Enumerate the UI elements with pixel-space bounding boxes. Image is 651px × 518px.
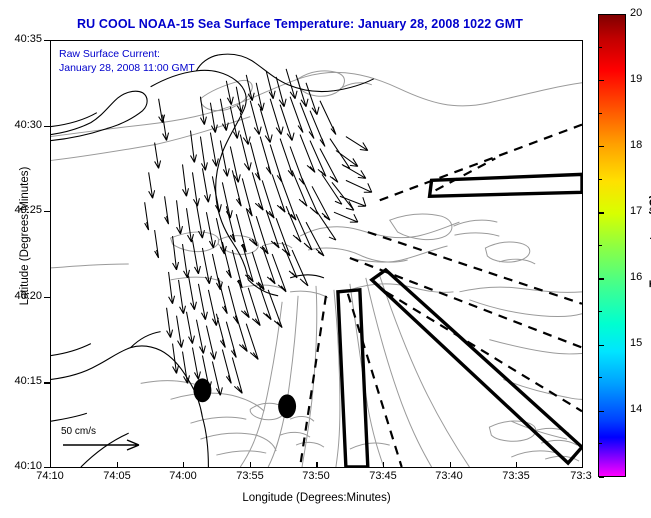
y-tick	[44, 211, 50, 212]
current-annotation: Raw Surface Current: January 28, 2008 11…	[59, 47, 195, 75]
colorbar-tick	[599, 345, 604, 346]
y-tick-label: 40:35	[0, 33, 42, 45]
x-tick-label: 74:00	[153, 470, 213, 482]
colorbar-minor-tick	[599, 179, 602, 180]
map-plot-area[interactable]: Raw Surface Current: January 28, 2008 11…	[50, 40, 583, 468]
y-tick	[44, 382, 50, 383]
y-tick-label: 40:30	[0, 119, 42, 131]
colorbar-tick	[599, 411, 604, 412]
colorbar-tick	[599, 146, 604, 147]
colorbar-tick	[599, 477, 604, 478]
x-tick-label: 74:05	[87, 470, 147, 482]
colorbar-tick	[599, 14, 604, 15]
colorbar-tick-label: 14	[630, 403, 642, 415]
x-tick	[450, 462, 451, 468]
map-canvas	[51, 41, 582, 467]
x-tick	[316, 462, 317, 468]
colorbar-tick-label: 20	[630, 7, 642, 19]
velocity-scale-label: 50 cm/s	[61, 426, 157, 437]
station-marker	[193, 378, 211, 402]
arrow-right-icon	[61, 438, 147, 452]
colorbar-minor-tick	[599, 47, 602, 48]
annotation-line-1: Raw Surface Current:	[59, 47, 195, 61]
velocity-scale-key: 50 cm/s	[61, 426, 157, 457]
x-axis-label: Longitude (Degrees:Minutes)	[50, 492, 583, 504]
colorbar-tick	[599, 212, 604, 213]
y-tick-label: 40:10	[0, 460, 42, 472]
colorbar-minor-tick	[599, 113, 602, 114]
y-tick	[44, 297, 50, 298]
x-tick	[50, 462, 51, 468]
y-tick	[44, 126, 50, 127]
y-tick	[44, 467, 50, 468]
station-marker-group	[193, 378, 296, 418]
colorbar-tick-label: 19	[630, 73, 642, 85]
colorbar-minor-tick	[599, 245, 602, 246]
annotation-line-2: January 28, 2008 11:00 GMT	[59, 61, 195, 75]
colorbar-tick-label: 16	[630, 271, 642, 283]
x-tick	[383, 462, 384, 468]
x-tick	[117, 462, 118, 468]
x-tick	[516, 462, 517, 468]
colorbar-tick-label: 17	[630, 205, 642, 217]
colorbar-tick	[599, 278, 604, 279]
y-tick	[44, 40, 50, 41]
colorbar-tick-label: 18	[630, 139, 642, 151]
sst-map-figure: RU COOL NOAA-15 Sea Surface Temperature:…	[0, 0, 651, 518]
temperature-colorbar[interactable]	[598, 14, 626, 477]
x-tick-label: 73:40	[419, 470, 479, 482]
current-vector-group	[145, 69, 372, 395]
x-tick-label: 73:35	[486, 470, 546, 482]
x-tick	[183, 462, 184, 468]
x-tick	[250, 462, 251, 468]
x-tick-label: 73:45	[353, 470, 413, 482]
x-tick-label: 73:55	[220, 470, 280, 482]
station-marker	[278, 394, 296, 418]
x-tick-label: 73:50	[286, 470, 346, 482]
colorbar-minor-tick	[599, 443, 602, 444]
page-title: RU COOL NOAA-15 Sea Surface Temperature:…	[0, 17, 600, 31]
solid-lane-group	[338, 174, 582, 467]
colorbar-tick	[599, 80, 604, 81]
x-tick	[582, 462, 583, 468]
colorbar-tick-label: 15	[630, 337, 642, 349]
y-axis-label: Latitude (Degrees:Minutes)	[19, 146, 31, 326]
colorbar-minor-tick	[599, 377, 602, 378]
y-tick-label: 40:15	[0, 375, 42, 387]
sst-contour-group	[51, 71, 582, 467]
colorbar-minor-tick	[599, 311, 602, 312]
